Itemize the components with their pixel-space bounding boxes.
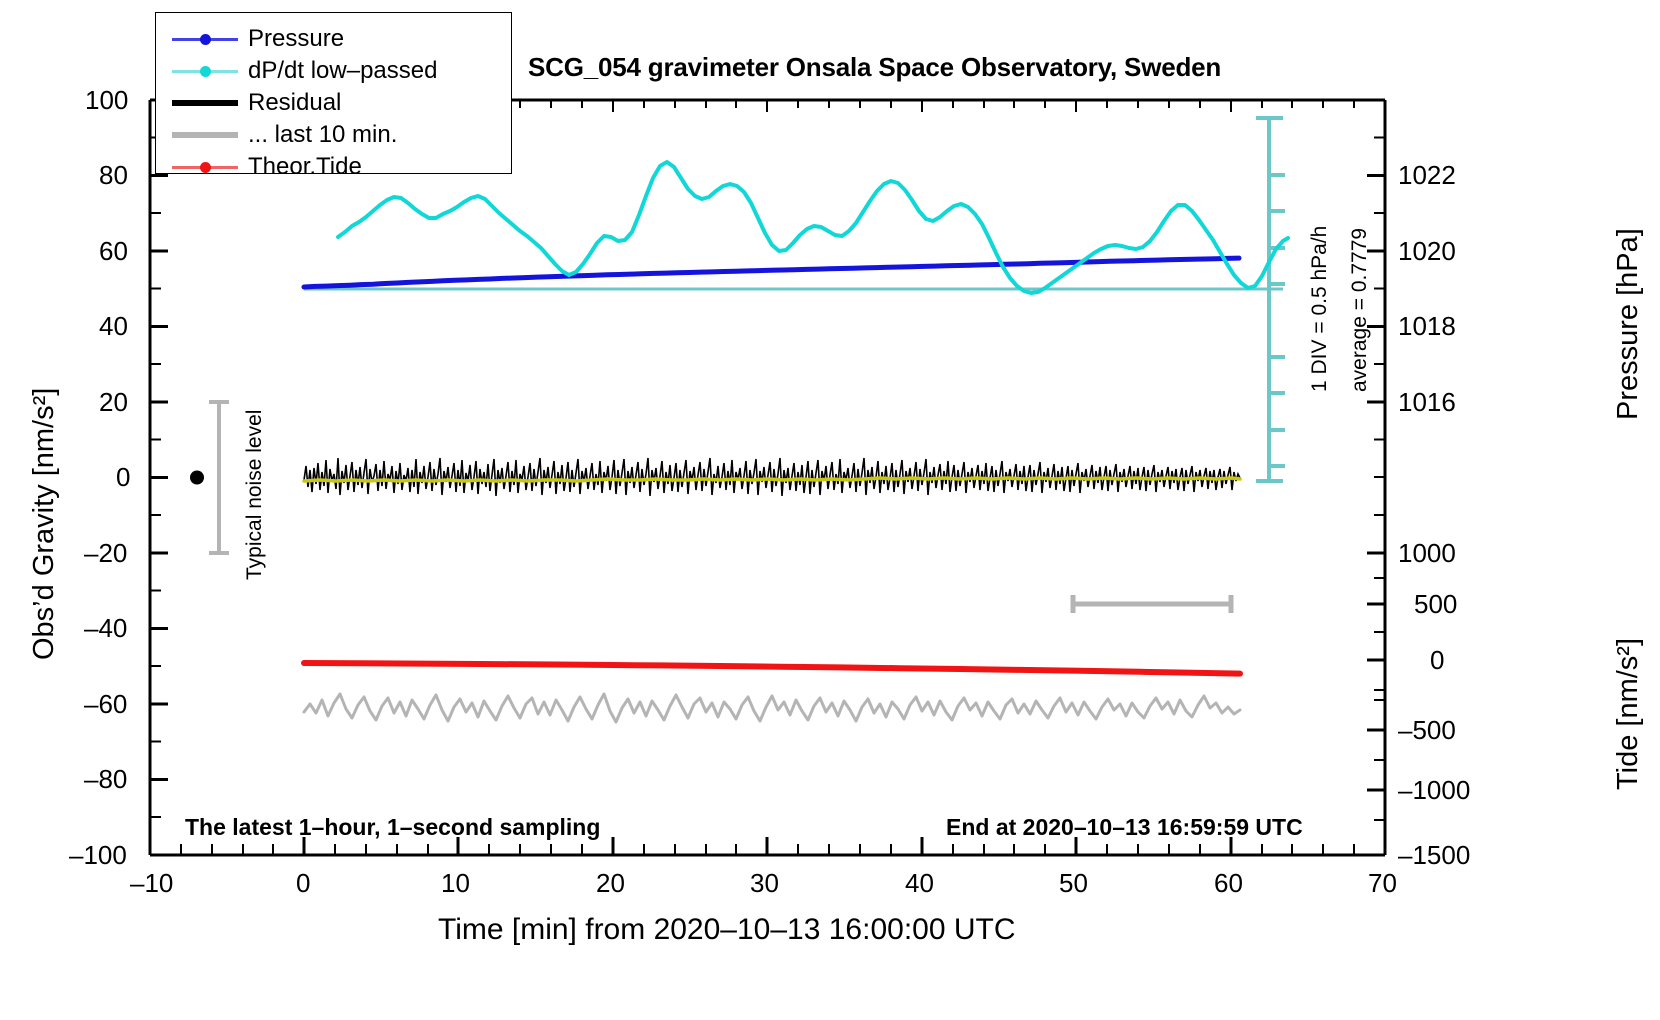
series-theor-tide	[304, 663, 1240, 674]
y-left-tick-3: 40	[99, 311, 128, 342]
y-right-pressure-tick-3: 1016	[1398, 387, 1456, 418]
legend-swatch-pressure	[166, 23, 244, 55]
series-residual-smoothed	[304, 478, 1240, 481]
x-tick-2: 10	[441, 868, 470, 899]
series-pressure	[304, 258, 1239, 287]
y-right-pressure-tick-1: 1020	[1398, 236, 1456, 267]
x-tick-7: 60	[1214, 868, 1243, 899]
y-right-tide-tick-3: –500	[1398, 715, 1456, 746]
y-left-tick-9: –80	[84, 764, 127, 795]
legend-item-last10[interactable]: ... last 10 min.	[166, 119, 511, 151]
x-tick-5: 40	[905, 868, 934, 899]
legend-item-pressure[interactable]: Pressure	[166, 23, 511, 55]
y-right-tide-tick-2: 0	[1430, 645, 1444, 676]
y-left-tick-7: –40	[84, 613, 127, 644]
y-left-tick-1: 80	[99, 160, 128, 191]
legend-label-last10: ... last 10 min.	[244, 121, 397, 149]
y-right-tide-tick-4: –1000	[1398, 775, 1470, 806]
y-left-tick-10: –100	[69, 840, 127, 871]
x-tick-1: 0	[296, 868, 310, 899]
x-tick-4: 30	[750, 868, 779, 899]
legend-item-residual[interactable]: Residual	[166, 87, 511, 119]
x-tick-0: –10	[130, 868, 173, 899]
y-right-tide-tick-0: 1000	[1398, 538, 1456, 569]
dpdt-reference-axis	[1256, 118, 1285, 481]
legend-swatch-dpdt	[166, 55, 244, 87]
legend-label-theor-tide: Theor.Tide	[244, 153, 362, 181]
x-tick-8: 70	[1368, 868, 1397, 899]
x-tick-6: 50	[1059, 868, 1088, 899]
y-left-tick-2: 60	[99, 236, 128, 267]
legend-swatch-theor-tide	[166, 151, 244, 183]
y-axis-right-minor-ticks	[1374, 138, 1385, 820]
legend-item-theor-tide[interactable]: Theor.Tide	[166, 151, 511, 183]
y-left-tick-5: 0	[116, 462, 130, 493]
typical-noise-errorbar	[209, 402, 229, 553]
legend-swatch-residual	[166, 87, 244, 119]
typical-noise-point	[190, 471, 204, 485]
y-left-tick-8: –60	[84, 689, 127, 720]
y-left-tick-0: 100	[85, 85, 128, 116]
y-right-tide-tick-5: –1500	[1398, 840, 1470, 871]
legend-label-residual: Residual	[244, 89, 341, 117]
legend-item-dpdt[interactable]: dP/dt low–passed	[166, 55, 511, 87]
y-left-tick-4: 20	[99, 387, 128, 418]
y-right-pressure-tick-2: 1018	[1398, 311, 1456, 342]
x-tick-3: 20	[596, 868, 625, 899]
series-last-10-min	[304, 694, 1240, 722]
last-10-min-span-bar	[1073, 595, 1231, 613]
legend-swatch-last10	[166, 119, 244, 151]
legend: Pressure dP/dt low–passed Residual	[155, 12, 512, 174]
y-right-tide-tick-1: 500	[1414, 589, 1457, 620]
y-right-pressure-tick-0: 1022	[1398, 160, 1456, 191]
legend-label-dpdt: dP/dt low–passed	[244, 57, 437, 85]
y-left-tick-6: –20	[84, 538, 127, 569]
legend-label-pressure: Pressure	[244, 25, 344, 53]
